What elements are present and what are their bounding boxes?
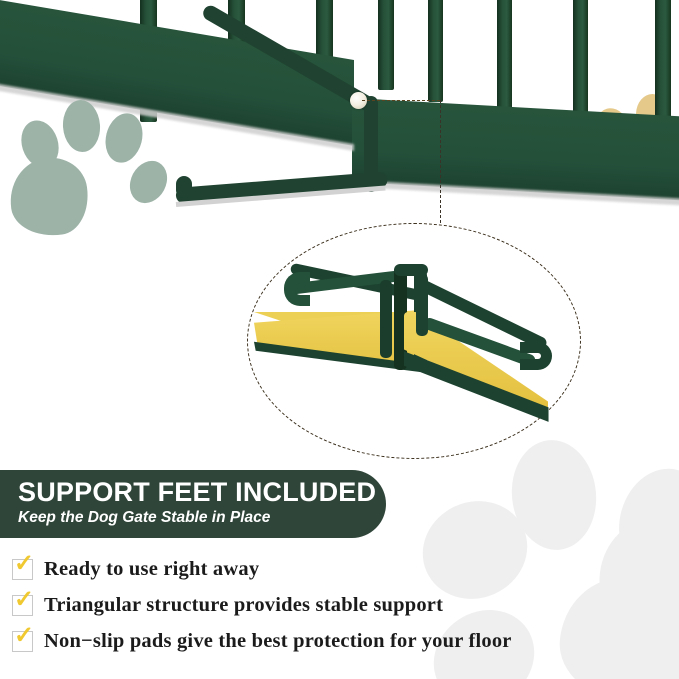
check-mark-icon: ✓ <box>14 625 35 647</box>
checkbox-checked-icon: ✓ <box>12 559 33 580</box>
support-feet-detail <box>248 224 582 460</box>
list-item: ✓ Triangular structure provides stable s… <box>12 588 652 622</box>
callout-line-vertical <box>440 100 441 228</box>
banner-subtitle: Keep the Dog Gate Stable in Place <box>18 507 386 529</box>
gate-bar <box>428 0 443 102</box>
product-infographic: SUPPORT FEET INCLUDED Keep the Dog Gate … <box>0 0 679 679</box>
feature-text: Triangular structure provides stable sup… <box>44 594 443 617</box>
check-mark-icon: ✓ <box>14 553 35 575</box>
checkbox-checked-icon: ✓ <box>12 631 33 652</box>
magnifier-ellipse <box>247 223 581 459</box>
callout-line-horizontal <box>362 100 440 101</box>
support-foot-tip <box>176 176 192 198</box>
list-item: ✓ Non−slip pads give the best protection… <box>12 624 652 658</box>
gate-bar <box>573 0 588 128</box>
right-frame-tip-curve <box>520 342 552 370</box>
product-photo <box>0 0 679 462</box>
support-foot-upright <box>364 96 378 192</box>
gate-bar <box>378 0 394 90</box>
feature-text: Ready to use right away <box>44 558 259 581</box>
right-frame-upright <box>416 274 428 336</box>
left-frame-upright <box>380 280 392 358</box>
headline-banner: SUPPORT FEET INCLUDED Keep the Dog Gate … <box>0 470 386 538</box>
paw-print-sage-icon <box>8 96 168 236</box>
banner-title: SUPPORT FEET INCLUDED <box>18 477 386 507</box>
checkbox-checked-icon: ✓ <box>12 595 33 616</box>
left-frame-curve <box>284 272 310 306</box>
feature-list: ✓ Ready to use right away ✓ Triangular s… <box>12 552 652 660</box>
gate-bar <box>497 0 512 116</box>
list-item: ✓ Ready to use right away <box>12 552 652 586</box>
feature-text: Non−slip pads give the best protection f… <box>44 630 512 653</box>
check-mark-icon: ✓ <box>14 589 35 611</box>
